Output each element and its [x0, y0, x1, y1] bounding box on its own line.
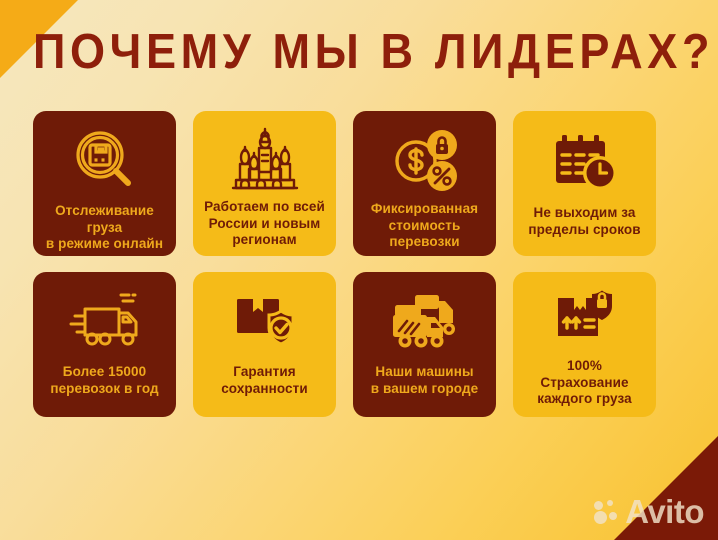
page-title: ПОЧЕМУ МЫ В ЛИДЕРАХ?	[33, 24, 714, 80]
benefit-card-label: 100% Страхование каждого груза	[521, 358, 648, 408]
benefit-card-label: Более 15000 перевозок в год	[48, 364, 160, 397]
magnifier-box-icon	[69, 125, 141, 197]
benefit-card-label: Фиксированная стоимость перевозки	[361, 201, 488, 251]
speeding-truck-icon	[65, 286, 145, 358]
avito-brand-text: Avito	[625, 495, 704, 528]
benefit-card-label: Не выходим за пределы сроков	[526, 205, 642, 238]
benefit-card-tracking[interactable]: Отслеживание груза в режиме онлайн	[33, 111, 176, 256]
box-shield-check-icon	[229, 286, 301, 358]
calendar-clock-icon	[548, 125, 622, 199]
cathedral-icon	[227, 125, 303, 193]
avito-watermark: Avito	[594, 495, 704, 528]
benefit-card-deadlines[interactable]: Не выходим за пределы сроков	[513, 111, 656, 256]
benefit-card-label: Работаем по всей России и новым регионам	[202, 199, 327, 249]
benefit-card-volume[interactable]: Более 15000 перевозок в год	[33, 272, 176, 417]
two-trucks-icon	[385, 286, 465, 358]
benefit-card-fleet[interactable]: Наши машины в вашем городе	[353, 272, 496, 417]
benefit-card-fixed-price[interactable]: Фиксированная стоимость перевозки	[353, 111, 496, 256]
benefit-card-label: Гарантия сохранности	[219, 364, 310, 397]
benefits-grid: Отслеживание груза в режиме онлайн	[33, 111, 656, 417]
benefit-card-safety[interactable]: Гарантия сохранности	[193, 272, 336, 417]
benefit-card-label: Отслеживание груза в режиме онлайн	[41, 203, 168, 253]
avito-logo-icon	[594, 500, 620, 524]
coin-lock-percent-icon	[387, 125, 463, 195]
promo-poster: ПОЧЕМУ МЫ В ЛИДЕРАХ? Отслеживание груза …	[0, 0, 718, 540]
benefit-card-coverage[interactable]: Работаем по всей России и новым регионам	[193, 111, 336, 256]
benefit-card-label: Наши машины в вашем городе	[369, 364, 480, 397]
benefit-card-insurance[interactable]: 100% Страхование каждого груза	[513, 272, 656, 417]
box-shield-lock-icon	[548, 286, 622, 352]
